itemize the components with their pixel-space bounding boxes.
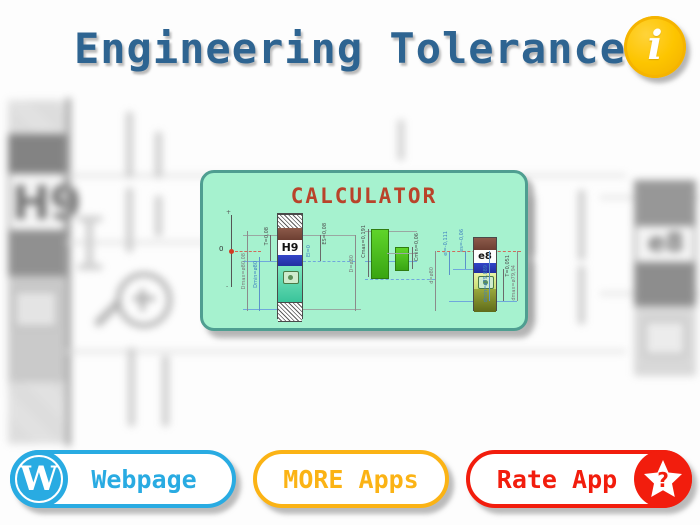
page-title: Engineering Tolerance	[0, 24, 700, 73]
star-question-icon: ?	[634, 450, 692, 508]
hole-tol-label: T=0,08	[265, 227, 270, 245]
shaft-dnom-label: d=ø80	[430, 267, 435, 284]
bg-band-blue	[8, 232, 66, 276]
bg-hatch-top	[8, 100, 66, 134]
bg-dim-7	[162, 356, 169, 426]
bg-dim-6	[128, 348, 135, 426]
hole-line-base	[243, 309, 277, 310]
hole-line-ei	[243, 261, 277, 262]
clearance-bar-min	[395, 247, 409, 271]
shaft-dim-ei	[449, 251, 450, 275]
zero-ref-dash	[235, 251, 261, 252]
bg-dim-12	[528, 262, 535, 324]
axis-zero-label: 0	[219, 245, 223, 253]
bg-dim-1	[86, 220, 93, 268]
hole-mini-icon	[283, 271, 299, 284]
bg-dim-4	[155, 132, 162, 178]
hole-es-label: ES=0,08	[323, 223, 328, 245]
hole-dim-dmax	[247, 231, 248, 311]
hole-band-blue	[278, 255, 302, 266]
bg-mini-icon	[14, 290, 58, 328]
bg-ref-line-3	[66, 350, 626, 353]
shaft-dim-es	[465, 251, 466, 269]
bg-shaft-label: e8	[648, 228, 684, 258]
clearance-dim-cmax	[368, 229, 369, 277]
hole-column: H9	[277, 213, 303, 319]
shaft-dim-dmin	[489, 251, 490, 301]
clearance-cmin-label: Cmin=0,06	[415, 233, 420, 261]
axis-plus-label: +	[226, 209, 231, 216]
bg-dim-2	[126, 112, 133, 178]
hole-label-box: H9	[278, 240, 302, 255]
hole-dim-dmin	[259, 257, 260, 311]
axis-minus-label: -	[226, 283, 228, 290]
hole-dnom-label: D=ø80	[350, 255, 355, 272]
more-apps-button-label: MORE Apps	[283, 465, 418, 494]
shaft-line-es	[453, 269, 473, 270]
shaft-dim-dnom	[435, 251, 436, 311]
shaft-ei-label: ei=-0,111	[444, 231, 449, 256]
info-icon-glyph: i	[624, 16, 686, 78]
clearance-line-bot	[365, 279, 435, 280]
calculator-title: CALCULATOR	[203, 184, 525, 208]
wordpress-icon-ring	[15, 455, 63, 503]
hole-line-es-r	[303, 235, 355, 236]
hole-band-brown	[278, 228, 302, 240]
bg-dim-1-cap2	[78, 264, 102, 270]
tolerance-diagram: + - 0 H9 Dmax=ø80,0	[203, 209, 525, 324]
bg-shaft-band	[634, 180, 696, 224]
hole-dim-dnom	[355, 235, 356, 311]
star-question-glyph: ?	[634, 450, 692, 508]
shaft-label-box: e8	[474, 250, 496, 263]
webpage-button-label: Webpage	[49, 465, 196, 494]
hole-dim-es	[320, 235, 321, 261]
calculator-panel[interactable]: CALCULATOR + - 0 H9	[200, 170, 528, 331]
bg-hatch-bottom	[8, 382, 66, 444]
info-icon[interactable]: i	[624, 16, 686, 78]
hole-dmax-label: Dmax=ø80,08	[242, 253, 247, 289]
hole-ei-label: EI=0	[307, 245, 312, 257]
bg-dim-13	[578, 190, 585, 260]
bg-dim-14	[578, 266, 585, 324]
webpage-button[interactable]: W Webpage	[10, 450, 236, 508]
bg-dim-3	[126, 188, 133, 252]
hole-dmin-label: Dmin=ø80	[254, 261, 259, 288]
shaft-dim-dmax	[517, 251, 518, 301]
hole-line-ei-r	[303, 261, 355, 262]
clearance-bar-max	[371, 229, 389, 279]
app-root: H9 e8	[0, 0, 700, 525]
shaft-band-brown	[474, 238, 496, 250]
magnifier-plus-icon	[116, 272, 172, 328]
hole-dim-tol	[270, 235, 271, 261]
bg-shaft-mini-icon	[644, 320, 686, 356]
bg-dim-5	[155, 196, 162, 236]
bg-dim-1-cap	[78, 216, 102, 222]
hole-line-es	[243, 235, 277, 236]
shaft-line-ei	[449, 301, 473, 302]
rate-app-button[interactable]: Rate App ?	[466, 450, 692, 508]
bg-shaft-navy	[634, 264, 696, 306]
axis-zero-dot	[229, 249, 234, 254]
hole-line-base-r	[303, 309, 361, 310]
wordpress-icon: W	[10, 450, 68, 508]
hole-hatch-bottom	[278, 302, 302, 322]
shaft-dmin-label: dmin=ø79,889	[484, 265, 489, 302]
clearance-dim-cmin	[412, 247, 413, 269]
bg-col-edge	[66, 98, 71, 446]
bg-dim-10	[398, 120, 404, 160]
shaft-dim-tol	[503, 269, 504, 301]
more-apps-button[interactable]: MORE Apps	[253, 450, 449, 508]
shaft-dmax-label: dmax=ø79,94	[512, 265, 517, 301]
shaft-line-ei-r	[497, 301, 517, 302]
bg-dim-11	[528, 196, 535, 256]
clearance-cmax-label: Cmax=0,191	[362, 225, 367, 258]
bg-band-brown	[8, 134, 66, 172]
shaft-es-label: es=-0,06	[460, 229, 465, 252]
